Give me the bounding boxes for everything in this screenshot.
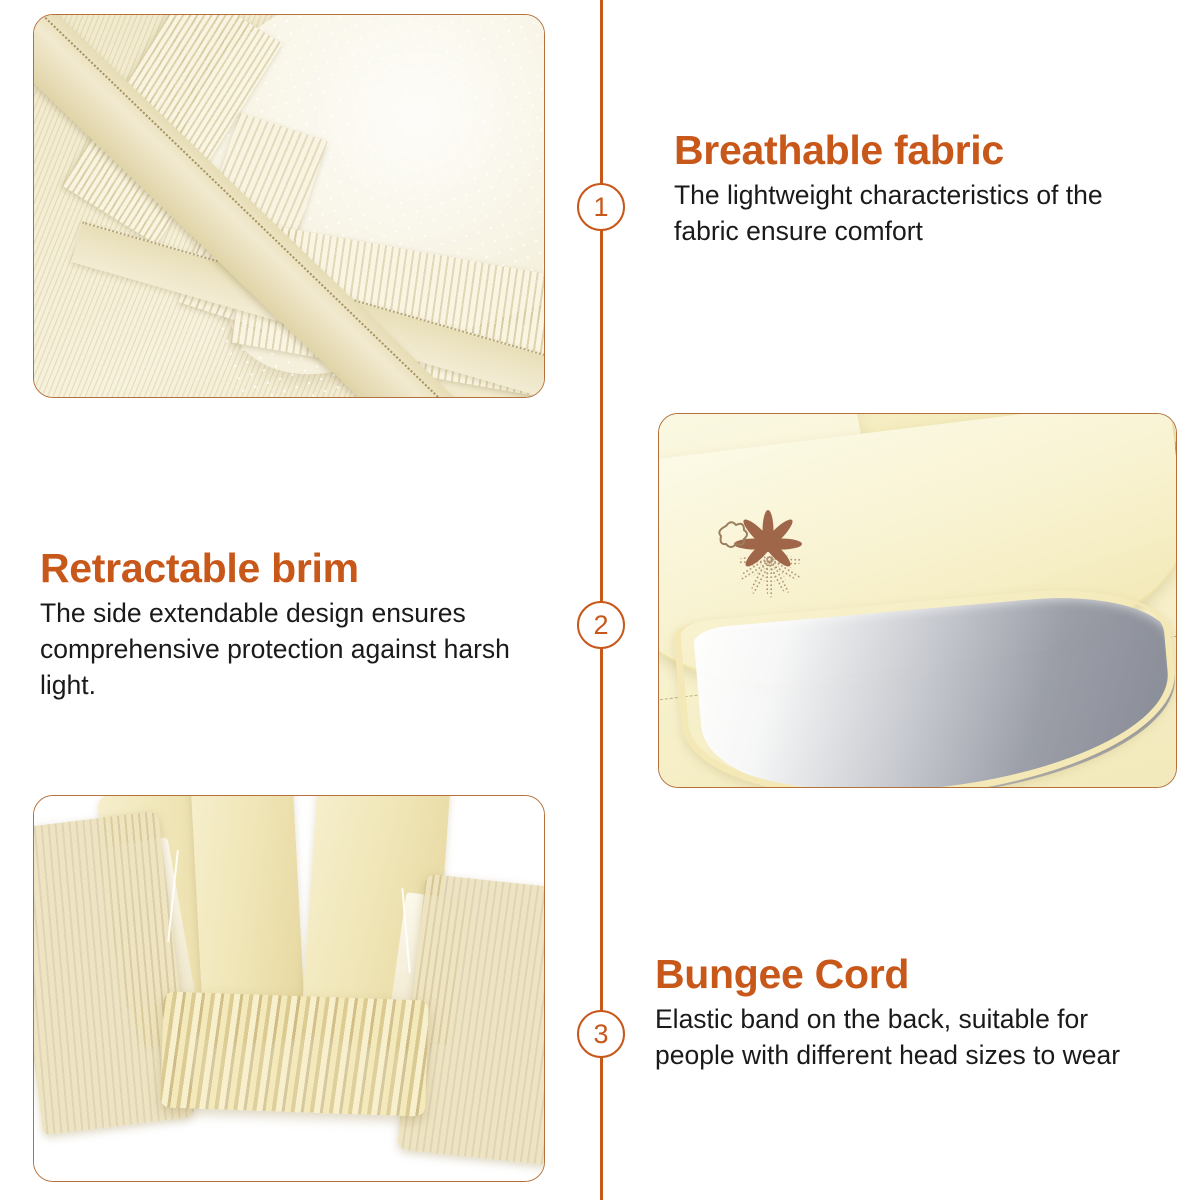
feature-title-2: Retractable brim [40,546,560,590]
step-number-1: 1 [593,194,608,221]
feature-photo-breathable-fabric [33,14,545,398]
elastic-bungee-band [160,992,429,1117]
photo-content-bungee-cord [34,796,544,1181]
step-marker-3: 3 [577,1010,625,1058]
step-marker-2: 2 [577,601,625,649]
photo-content-breathable-fabric [34,15,544,397]
step-marker-1: 1 [577,183,625,231]
feature-description-1: The lightweight characteristics of the f… [674,178,1174,250]
feature-description-2: The side extendable design ensures compr… [40,596,560,703]
product-feature-infographic: 1 2 3 Breathable fabric The lightweight … [0,0,1200,1200]
flower-motif-icon [706,496,826,616]
feature-photo-bungee-cord [33,795,545,1182]
feature-description-3: Elastic band on the back, suitable for p… [655,1002,1165,1074]
step-number-3: 3 [593,1021,608,1048]
feature-text-bungee-cord: Bungee Cord Elastic band on the back, su… [655,952,1165,1074]
step-number-2: 2 [593,612,608,639]
feature-text-breathable-fabric: Breathable fabric The lightweight charac… [674,128,1174,250]
feature-text-retractable-brim: Retractable brim The side extendable des… [40,546,560,704]
feature-title-3: Bungee Cord [655,952,1165,996]
feature-photo-retractable-brim: Kqu [658,413,1177,788]
feature-title-1: Breathable fabric [674,128,1174,172]
photo-content-retractable-brim: Kqu [659,414,1176,787]
